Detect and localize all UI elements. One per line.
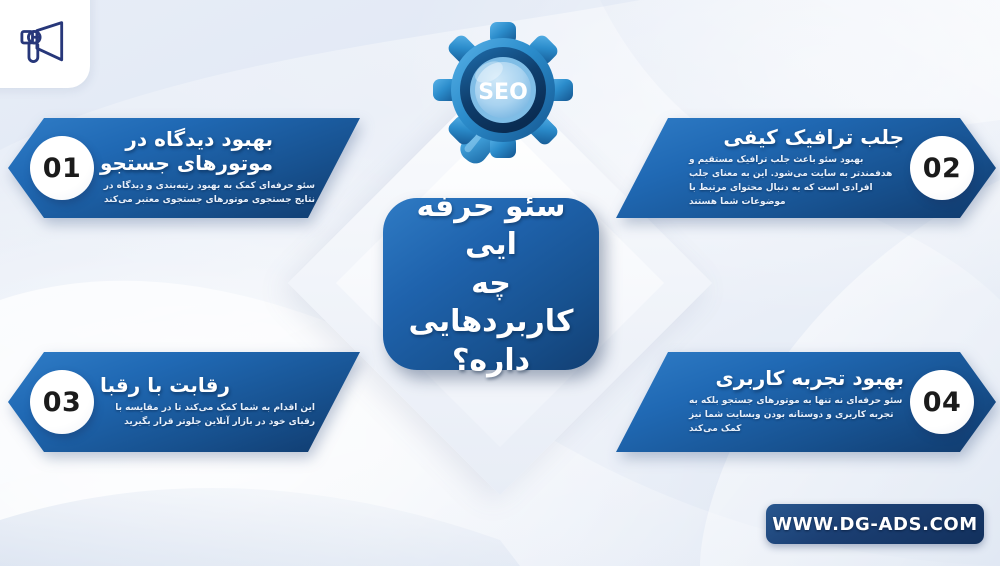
- website-url: WWW.DG-ADS.COM: [772, 514, 978, 535]
- card-title-03-line-1: رقابت با رقبا: [100, 374, 230, 398]
- card-content-01: بهبود دیدگاه در موتورهای جستجو سئو حرفه‌…: [100, 126, 348, 210]
- center-question-line-1: سئو حرفه ایی: [391, 188, 591, 265]
- center-question-line-2: چه کاربردهایی: [391, 265, 591, 342]
- card-number-03: 03: [43, 387, 82, 418]
- card-title-02: جلب ترافیک کیفی: [723, 126, 904, 150]
- card-number-01: 01: [43, 153, 82, 184]
- benefit-card-03[interactable]: رقابت با رقبا این اقدام به شما کمک می‌کن…: [8, 352, 360, 452]
- center-question-box: سئو حرفه ایی چه کاربردهایی داره؟: [383, 198, 599, 370]
- card-title-03: رقابت با رقبا: [100, 374, 230, 398]
- card-number-badge-02: 02: [910, 136, 974, 200]
- card-number-badge-01: 01: [30, 136, 94, 200]
- card-description-01: سئو حرفه‌ای کمک به بهبود رتبه‌بندی و دید…: [100, 180, 315, 208]
- card-title-04: بهبود تجربه کاربری: [715, 367, 904, 391]
- card-number-badge-03: 03: [30, 370, 94, 434]
- seo-icon-label: SEO: [478, 80, 528, 105]
- card-number-04: 04: [923, 387, 962, 418]
- center-question-line-3: داره؟: [391, 342, 591, 380]
- card-description-02: بهبود سئو باعث جلب ترافیک مستقیم و هدفمن…: [689, 154, 904, 210]
- card-title-01: بهبود دیدگاه در موتورهای جستجو: [100, 128, 273, 175]
- card-title-01-line-1: بهبود دیدگاه در: [100, 128, 273, 152]
- card-content-04: بهبود تجربه کاربری سئو حرفه‌ای نه تنها ب…: [630, 360, 904, 444]
- card-title-01-line-2: موتورهای جستجو: [100, 152, 273, 176]
- card-description-03: این اقدام به شما کمک می‌کند تا در مقایسه…: [100, 402, 315, 430]
- megaphone-dg-logo-icon: [17, 20, 71, 66]
- benefit-card-02[interactable]: جلب ترافیک کیفی بهبود سئو باعث جلب ترافی…: [616, 118, 996, 218]
- website-badge[interactable]: WWW.DG-ADS.COM: [766, 504, 984, 544]
- center-question-text: سئو حرفه ایی چه کاربردهایی داره؟: [383, 188, 599, 380]
- benefit-card-01[interactable]: بهبود دیدگاه در موتورهای جستجو سئو حرفه‌…: [8, 118, 360, 218]
- card-title-04-line-1: بهبود تجربه کاربری: [715, 367, 904, 391]
- card-number-02: 02: [923, 153, 962, 184]
- card-content-02: جلب ترافیک کیفی بهبود سئو باعث جلب ترافی…: [630, 126, 904, 210]
- seo-gear-magnifier-icon: SEO: [427, 18, 577, 183]
- benefit-card-04[interactable]: بهبود تجربه کاربری سئو حرفه‌ای نه تنها ب…: [616, 352, 996, 452]
- card-content-03: رقابت با رقبا این اقدام به شما کمک می‌کن…: [100, 360, 348, 444]
- card-title-02-line-1: جلب ترافیک کیفی: [723, 126, 904, 150]
- card-number-badge-04: 04: [910, 370, 974, 434]
- brand-logo-badge[interactable]: [0, 0, 90, 88]
- card-description-04: سئو حرفه‌ای نه تنها به موتورهای جستجو بل…: [689, 395, 904, 437]
- infographic-canvas: SEO سئو حرفه ایی چه کاربردهایی داره؟ بهب…: [0, 0, 1000, 566]
